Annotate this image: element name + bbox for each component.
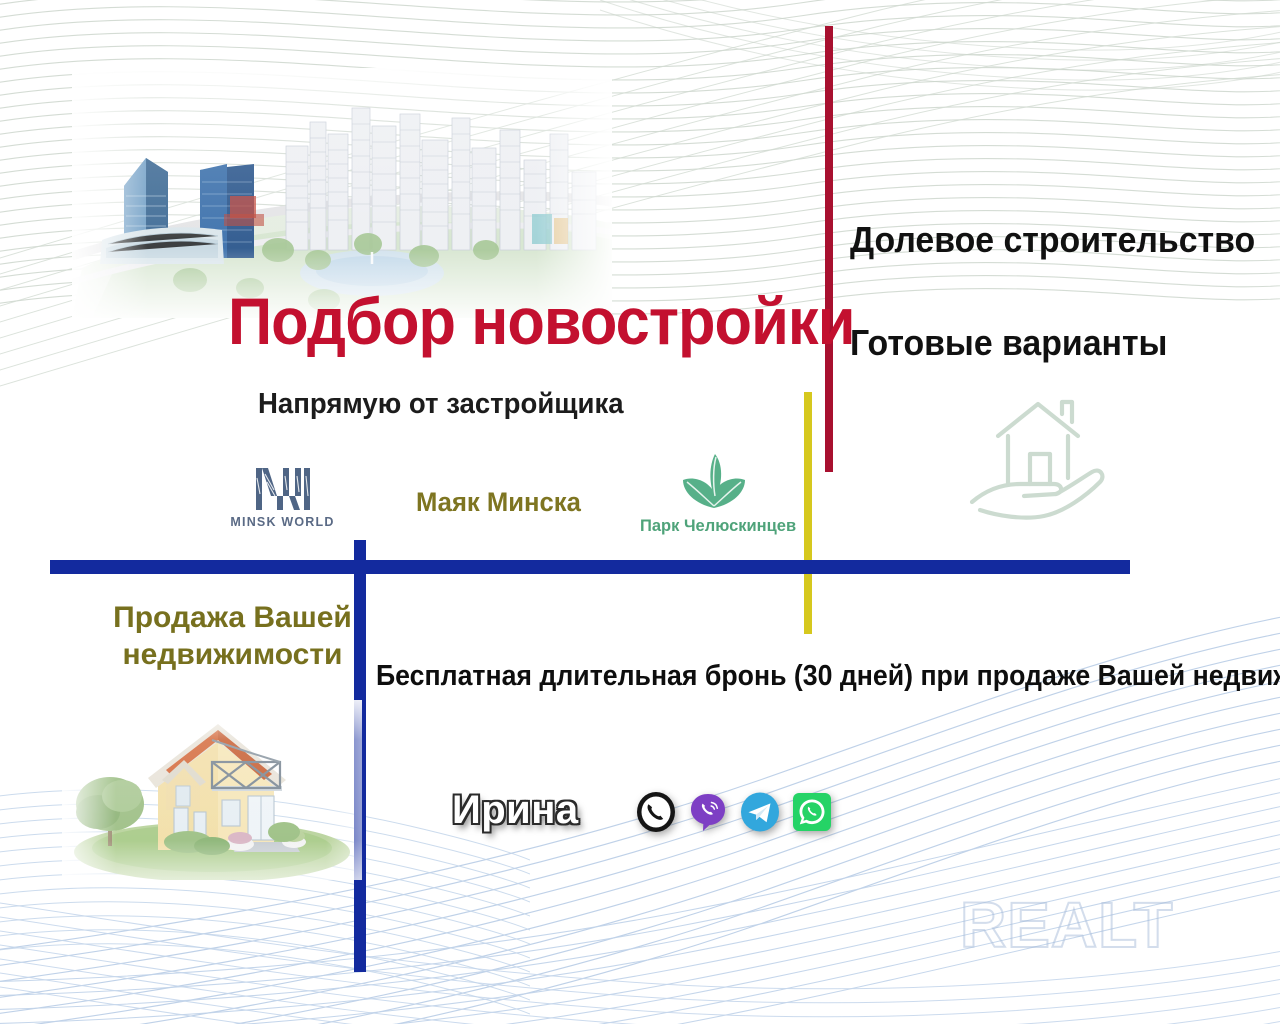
house-in-hand-icon: [958, 392, 1118, 522]
phone-icon[interactable]: [634, 790, 678, 834]
divider-red-vertical: [825, 26, 833, 472]
whatsapp-icon[interactable]: [790, 790, 834, 834]
mw-monogram-icon: [252, 466, 314, 512]
free-reservation-banner: Бесплатная длительная бронь (30 дней) пр…: [376, 660, 1280, 693]
viber-icon[interactable]: [686, 790, 730, 834]
offer-line-shared-construction: Долевое строительство: [850, 219, 1255, 261]
developer-logo-mayak-minska[interactable]: Маяк Минска: [416, 487, 581, 518]
leaf-icon: [675, 452, 753, 510]
contact-icons[interactable]: [634, 790, 834, 834]
developer-logo-label: Парк Челюскинцев: [640, 517, 788, 536]
advertisement-poster: Подбор новостройки Напрямую от застройщи…: [0, 0, 1280, 1024]
offer-line-ready-options: Готовые варианты: [850, 322, 1167, 364]
cottage-house-photo: [62, 700, 362, 880]
minsk-city-skyline-photo: [72, 68, 612, 318]
sell-property-title-line1: Продажа Вашей: [113, 601, 352, 634]
developer-logo-label: MINSK WORLD: [225, 515, 340, 529]
sell-property-title: Продажа Вашей недвижимости: [110, 600, 355, 673]
sell-property-title-line2: недвижимости: [123, 638, 343, 671]
telegram-icon[interactable]: [738, 790, 782, 834]
developer-logo-minsk-world[interactable]: MINSK WORLD: [225, 466, 340, 529]
developer-logo-park-chelyuskintsev[interactable]: Парк Челюскинцев: [640, 452, 788, 536]
divider-blue-horizontal: [50, 560, 1130, 574]
divider-yellow-vertical: [804, 392, 812, 634]
page-title: Подбор новостройки: [228, 288, 855, 354]
realt-watermark: REALT: [960, 888, 1174, 962]
agent-name: Ирина: [452, 788, 579, 833]
page-subtitle: Напрямую от застройщика: [258, 388, 624, 421]
